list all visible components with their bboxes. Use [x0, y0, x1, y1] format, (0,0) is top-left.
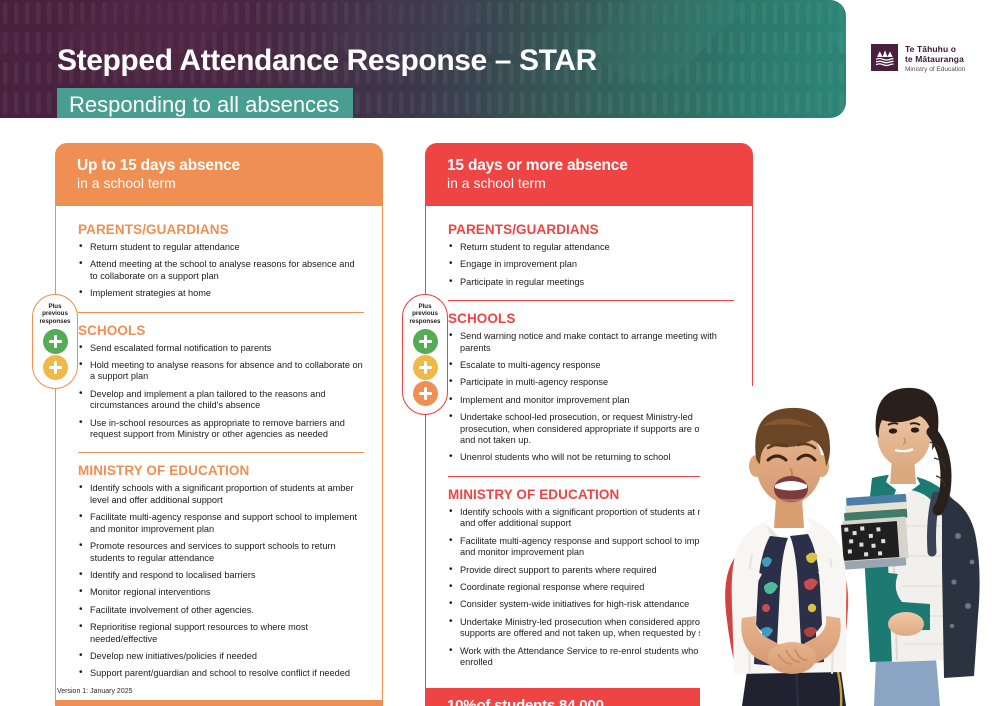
logo-subline: Ministry of Education [905, 65, 965, 75]
list-item: Implement strategies at home [78, 288, 364, 299]
list-item: Send escalated formal notification to pa… [78, 343, 364, 354]
list-item: Provide direct support to parents where … [448, 565, 734, 576]
bullet-list: Send escalated formal notification to pa… [78, 343, 364, 441]
bullet-list: Identify schools with a significant prop… [78, 483, 364, 679]
card-left-title: Up to 15 days absence [77, 157, 363, 174]
section-parents-guardians-right: PARENTS/GUARDIANS Return student to regu… [448, 222, 734, 288]
card-right-footer-mid: of students. [476, 697, 559, 706]
list-item: Engage in improvement plan [448, 259, 734, 270]
list-item: Facilitate involvement of other agencies… [78, 605, 364, 616]
moe-mountains-waves-icon [871, 44, 898, 71]
section-schools-right: SCHOOLS Send warning notice and make con… [448, 300, 734, 464]
students-photo-illustration [700, 386, 1000, 706]
list-item: Hold meeting to analyse reasons for abse… [78, 360, 364, 383]
plus-icon-green [43, 329, 68, 354]
list-item: Facilitate multi-agency response and sup… [448, 536, 734, 559]
card-right-count: 84,000 [559, 697, 604, 706]
plus-icon-yellow [413, 355, 438, 380]
infographic-page: Stepped Attendance Response – STAR Respo… [0, 0, 1000, 706]
section-heading: SCHOOLS [448, 311, 734, 326]
version-note: Version 1: January 2025 [57, 688, 133, 695]
section-heading: MINISTRY OF EDUCATION [448, 487, 734, 502]
list-item: Implement and monitor improvement plan [448, 395, 734, 406]
badge-left-label-2: previous [33, 310, 77, 317]
page-title-star: STAR [519, 44, 597, 77]
header-banner: Stepped Attendance Response – STAR Respo… [0, 0, 846, 118]
list-item: Return student to regular attendance [78, 242, 364, 253]
section-ministry-left: MINISTRY OF EDUCATION Identify schools w… [78, 452, 364, 679]
plus-previous-responses-badge-left: Plus previous responses [32, 294, 78, 389]
badge-left-label-3: responses [33, 318, 77, 325]
card-left-header: Up to 15 days absence in a school term [55, 143, 383, 206]
section-heading: PARENTS/GUARDIANS [78, 222, 364, 237]
list-item: Participate in regular meetings [448, 277, 734, 288]
section-parents-guardians-left: PARENTS/GUARDIANS Return student to regu… [78, 222, 364, 300]
card-left-subtitle: in a school term [77, 175, 363, 192]
section-heading: SCHOOLS [78, 323, 364, 338]
list-item: Escalate to multi-agency response [448, 360, 734, 371]
section-schools-left: SCHOOLS Send escalated formal notificati… [78, 312, 364, 441]
bullet-list: Return student to regular attendance Att… [78, 242, 364, 300]
list-item: Use in-school resources as appropriate t… [78, 418, 364, 441]
list-item: Support parent/guardian and school to re… [78, 668, 364, 679]
bullet-list: Send warning notice and make contact to … [448, 331, 734, 464]
list-item: Coordinate regional response where requi… [448, 582, 734, 593]
list-item: Identify and respond to localised barrie… [78, 570, 364, 581]
bullet-list: Return student to regular attendance Eng… [448, 242, 734, 288]
list-item: Reprioritise regional support resources … [78, 622, 364, 645]
bullet-list: Identify schools with a significant prop… [448, 507, 734, 668]
badge-right-label: Plus previous responses [403, 303, 447, 325]
list-item: Attend meeting at the school to analyse … [78, 259, 364, 282]
list-item: Work with the Attendance Service to re-e… [448, 646, 734, 669]
card-right-title: 15 days or more absence [447, 157, 733, 174]
badge-left-label: Plus previous responses [33, 303, 77, 325]
card-up-to-15-days: Up to 15 days absence in a school term P… [55, 143, 383, 706]
list-item: Undertake Ministry-led prosecution when … [448, 617, 734, 640]
card-right-percent: 10% [447, 697, 476, 706]
list-item: Identify schools with a significant prop… [448, 507, 734, 530]
list-item: Identify schools with a significant prop… [78, 483, 364, 506]
logo-wordmark: Te Tāhuhu o te Mātauranga Ministry of Ed… [905, 44, 965, 75]
plus-icon-green [413, 329, 438, 354]
list-item: Develop and implement a plan tailored to… [78, 389, 364, 412]
badge-right-label-2: previous [403, 310, 447, 317]
badge-left-label-1: Plus [33, 303, 77, 310]
section-heading: MINISTRY OF EDUCATION [78, 463, 364, 478]
list-item: Return student to regular attendance [448, 242, 734, 253]
page-title-main: Stepped Attendance Response – [57, 44, 519, 77]
ministry-logo: Te Tāhuhu o te Mātauranga Ministry of Ed… [871, 44, 965, 75]
logo-line-2: te Mātauranga [905, 54, 965, 64]
section-ministry-right: MINISTRY OF EDUCATION Identify schools w… [448, 476, 734, 668]
card-right-header: 15 days or more absence in a school term [425, 143, 753, 206]
list-item: Monitor regional interventions [78, 587, 364, 598]
list-item: Facilitate multi-agency response and sup… [78, 512, 364, 535]
plus-icon-yellow [43, 355, 68, 380]
list-item: Unenrol students who will not be returni… [448, 452, 734, 463]
students-photo [700, 386, 1000, 706]
list-item: Participate in multi-agency response [448, 377, 734, 388]
list-item: Send warning notice and make contact to … [448, 331, 734, 354]
logo-glyph [871, 44, 898, 71]
list-item: Promote resources and services to suppor… [78, 541, 364, 564]
list-item: Undertake school-led prosecution, or req… [448, 412, 734, 446]
badge-right-label-1: Plus [403, 303, 447, 310]
card-left-body: Plus previous responses PARENTS/GUARDIAN… [55, 206, 383, 700]
page-title: Stepped Attendance Response – STAR [57, 44, 597, 78]
plus-previous-responses-badge-right: Plus previous responses [402, 294, 448, 415]
logo-line-1: Te Tāhuhu o [905, 44, 965, 54]
plus-icon-orange [413, 381, 438, 406]
card-left-footer: 11% of students. 88,000 [55, 700, 383, 706]
badge-right-label-3: responses [403, 318, 447, 325]
list-item: Consider system-wide initiatives for hig… [448, 599, 734, 610]
list-item: Develop new initiatives/policies if need… [78, 651, 364, 662]
page-subtitle-chip: Responding to all absences [57, 88, 353, 118]
section-heading: PARENTS/GUARDIANS [448, 222, 734, 237]
card-right-subtitle: in a school term [447, 175, 733, 192]
